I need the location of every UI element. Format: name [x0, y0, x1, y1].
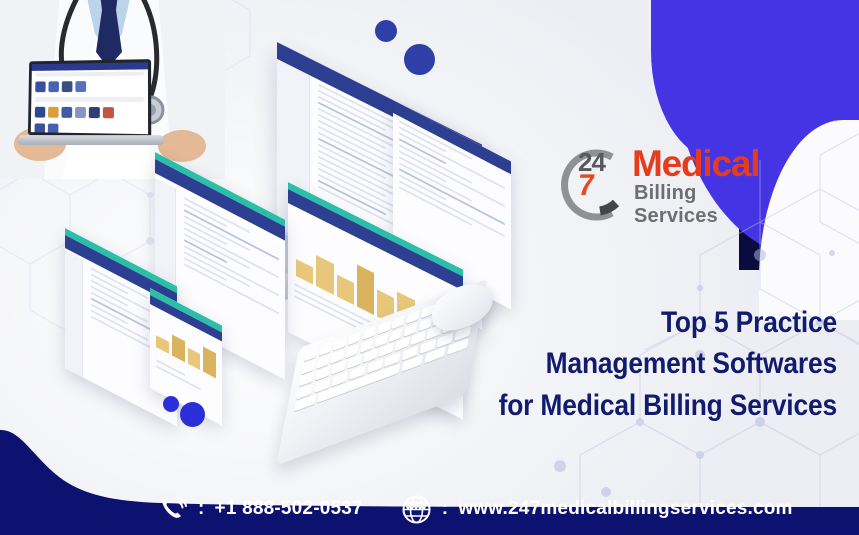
- phone-separator: :: [198, 498, 205, 520]
- laptop-screen: [28, 59, 151, 137]
- decor-circle-top-small: [375, 20, 397, 42]
- headline-line-1: Top 5 Practice: [459, 302, 837, 343]
- logo-brand-secondary: Billing Services: [634, 182, 778, 228]
- logo-brand-primary: Medical: [632, 143, 759, 185]
- website-url[interactable]: www.247medicalbillingservices.com: [458, 498, 792, 520]
- globe-www-icon: [401, 494, 432, 525]
- decor-circle-top-large: [404, 44, 435, 75]
- phone-number[interactable]: +1 888-502-0537: [215, 498, 363, 520]
- brand-logo[interactable]: 24 7 Medical Billing Services: [548, 133, 778, 223]
- web-separator: :: [442, 498, 449, 520]
- laptop-device: [26, 60, 166, 160]
- headline-line-2: Management Softwares: [459, 343, 837, 384]
- marketing-banner: 24 7 Medical Billing Services Top 5 Prac…: [0, 0, 859, 535]
- laptop-base: [16, 135, 165, 145]
- contact-bar: : +1 888-502-0537 : www.247medicalbillin…: [0, 483, 859, 535]
- logo-number-7: 7: [576, 169, 596, 203]
- phone-icon: [158, 494, 188, 524]
